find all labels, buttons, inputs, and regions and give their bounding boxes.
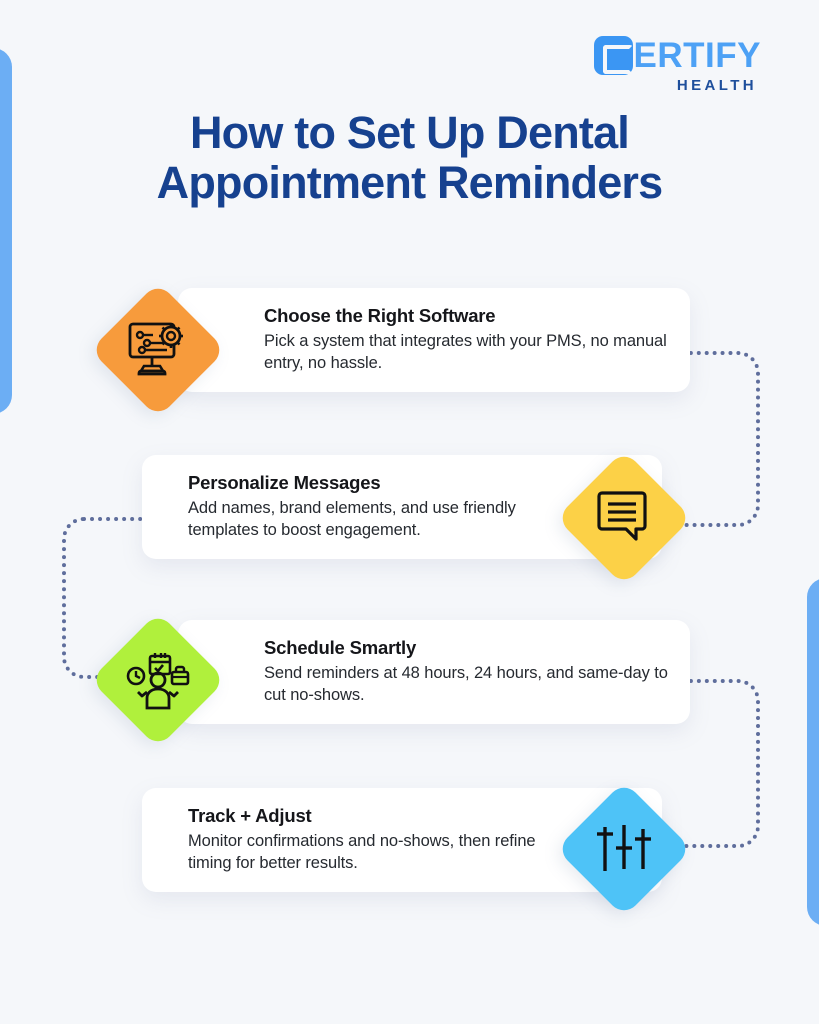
chat-bubble-icon: [595, 490, 653, 546]
step-body-4: Monitor confirmations and no-shows, then…: [188, 831, 552, 875]
step-card-text-2: Personalize Messages Add names, brand el…: [188, 472, 552, 542]
step-heading-4: Track + Adjust: [188, 805, 552, 827]
step-body-3: Send reminders at 48 hours, 24 hours, an…: [264, 663, 690, 707]
accent-bar-right: [807, 578, 819, 926]
step-card-text-1: Choose the Right Software Pick a system …: [264, 305, 690, 375]
step-heading-3: Schedule Smartly: [264, 637, 690, 659]
infographic-canvas: ERTIFY HEALTH How to Set Up Dental Appoi…: [0, 0, 819, 1024]
step-body-1: Pick a system that integrates with your …: [264, 331, 690, 375]
step-card-text-4: Track + Adjust Monitor confirmations and…: [188, 805, 552, 875]
page-title: How to Set Up Dental Appointment Reminde…: [0, 108, 819, 209]
accent-bar-left: [0, 48, 12, 414]
step-card-text-3: Schedule Smartly Send reminders at 48 ho…: [264, 637, 690, 707]
step-item-2: Personalize Messages Add names, brand el…: [110, 455, 710, 575]
step-item-1: Choose the Right Software Pick a system …: [110, 288, 710, 408]
step-item-4: Track + Adjust Monitor confirmations and…: [110, 788, 710, 908]
person-schedule-icon: [126, 650, 190, 710]
step-heading-1: Choose the Right Software: [264, 305, 690, 327]
monitor-settings-icon: [127, 321, 189, 379]
step-card-1: Choose the Right Software Pick a system …: [178, 288, 690, 392]
step-item-3: Schedule Smartly Send reminders at 48 ho…: [110, 620, 710, 740]
sliders-icon: [596, 821, 652, 877]
step-card-3: Schedule Smartly Send reminders at 48 ho…: [178, 620, 690, 724]
logo-subtitle: HEALTH: [677, 77, 757, 94]
brand-logo: ERTIFY HEALTH: [594, 36, 761, 94]
logo-c-mark-icon: [594, 36, 633, 75]
logo-wordmark: ERTIFY: [634, 38, 761, 73]
logo-row: ERTIFY: [594, 36, 761, 75]
step-heading-2: Personalize Messages: [188, 472, 552, 494]
step-body-2: Add names, brand elements, and use frien…: [188, 498, 552, 542]
